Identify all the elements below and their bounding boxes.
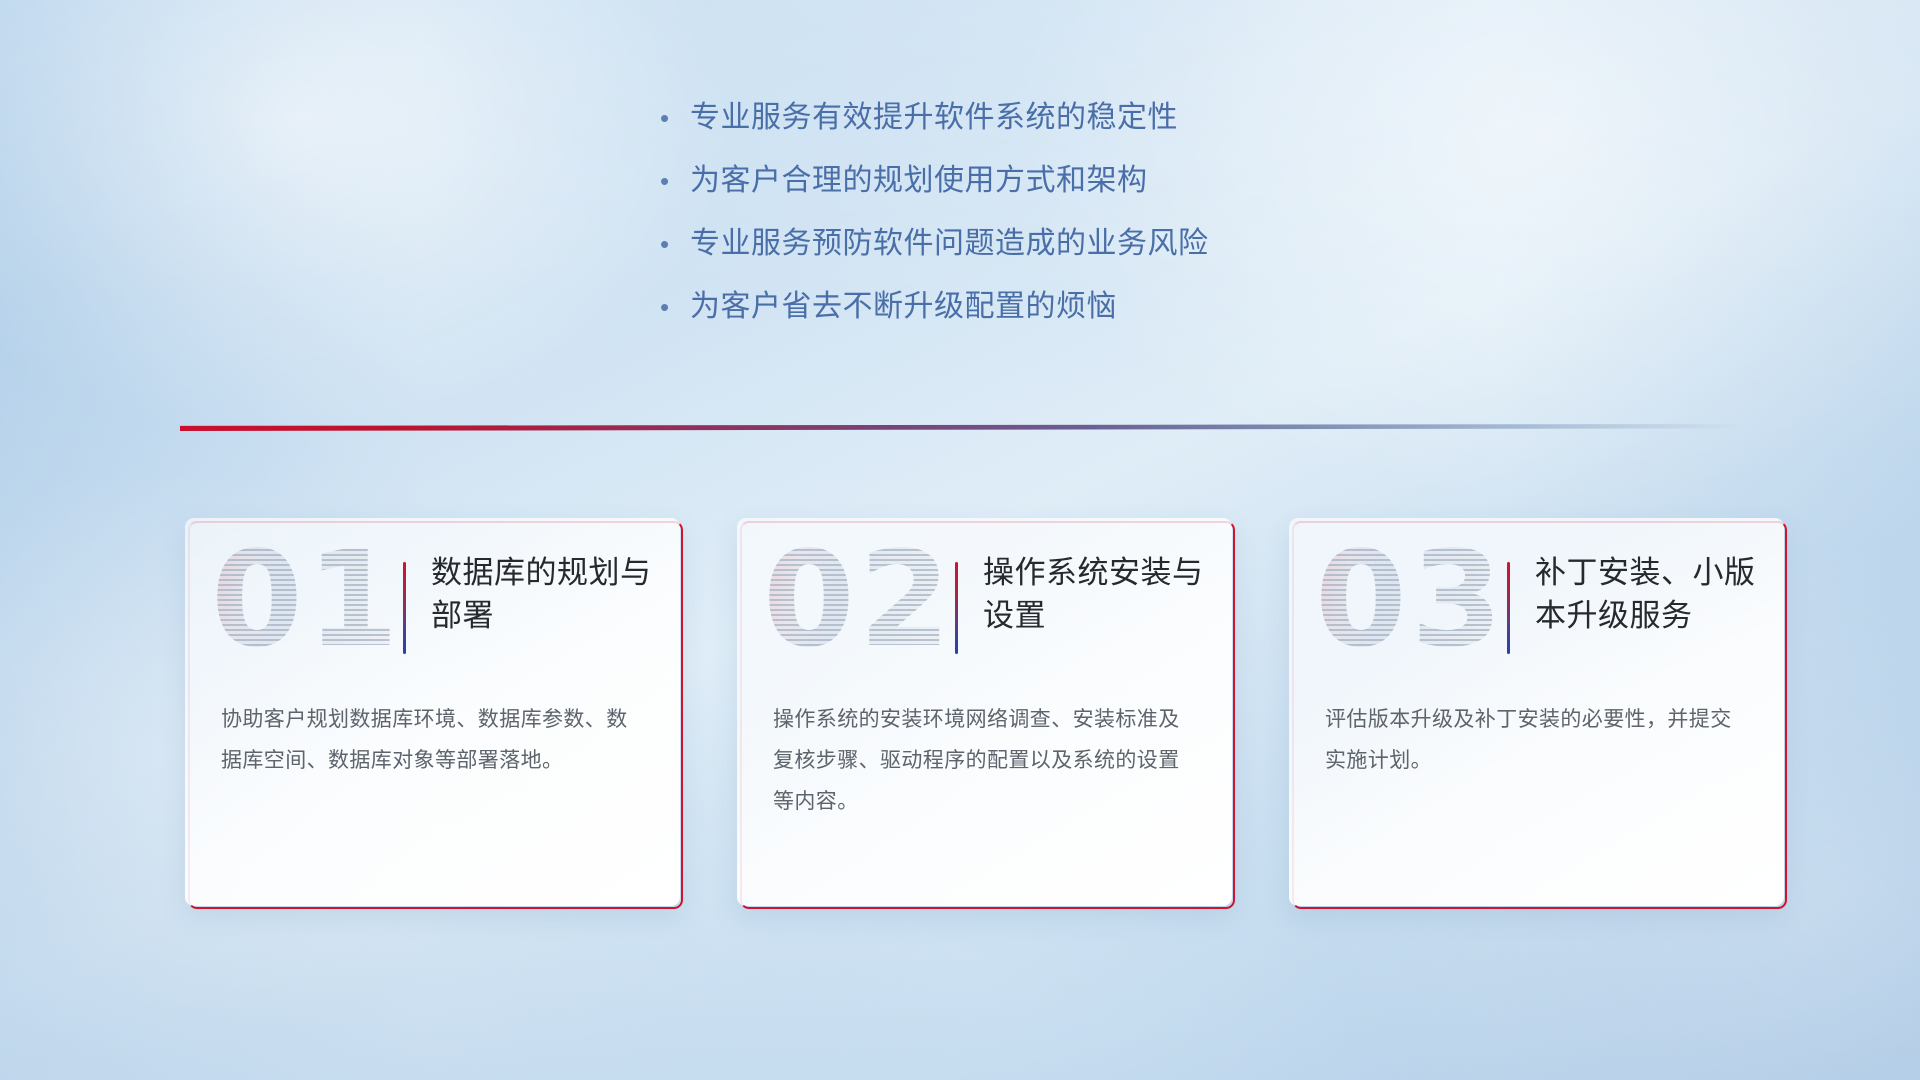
bullet-marker-icon: • — [660, 105, 690, 131]
card-title: 补丁安装、小版本升级服务 — [1535, 552, 1765, 638]
title-accent-rule — [403, 562, 406, 654]
bullet-list: • 专业服务有效提升软件系统的稳定性 • 为客户合理的规划使用方式和架构 • 专… — [660, 100, 1420, 352]
bullet-text: 为客户合理的规划使用方式和架构 — [690, 163, 1148, 199]
bullet-item: • 为客户合理的规划使用方式和架构 — [660, 163, 1420, 199]
service-card[interactable]: 01 数据库的规划与部署 协助客户规划数据库环境、数据库参数、数据库空间、数据库… — [185, 518, 680, 906]
slide-canvas: • 专业服务有效提升软件系统的稳定性 • 为客户合理的规划使用方式和架构 • 专… — [0, 0, 1920, 1080]
bullet-text: 专业服务有效提升软件系统的稳定性 — [690, 100, 1178, 136]
service-card[interactable]: 02 操作系统安装与设置 操作系统的安装环境网络调查、安装标准及复核步骤、驱动程… — [737, 518, 1232, 906]
card-number-watermark: 01 — [211, 534, 403, 666]
card-content: 03 补丁安装、小版本升级服务 评估版本升级及补丁安装的必要性，并提交实施计划。 — [1289, 518, 1784, 906]
bullet-item: • 专业服务有效提升软件系统的稳定性 — [660, 100, 1420, 136]
title-accent-rule — [955, 562, 958, 654]
card-body-text: 评估版本升级及补丁安装的必要性，并提交实施计划。 — [1325, 700, 1749, 782]
title-accent-rule — [1507, 562, 1510, 654]
card-number-watermark: 03 — [1315, 534, 1507, 666]
bullet-item: • 为客户省去不断升级配置的烦恼 — [660, 289, 1420, 325]
bullet-item: • 专业服务预防软件问题造成的业务风险 — [660, 226, 1420, 262]
section-divider — [180, 424, 1745, 434]
bullet-marker-icon: • — [660, 168, 690, 194]
card-number-watermark: 02 — [763, 534, 955, 666]
card-title: 数据库的规划与部署 — [431, 552, 661, 638]
bullet-text: 为客户省去不断升级配置的烦恼 — [690, 289, 1117, 325]
card-body-text: 操作系统的安装环境网络调查、安装标准及复核步骤、驱动程序的配置以及系统的设置等内… — [773, 700, 1197, 823]
bullet-text: 专业服务预防软件问题造成的业务风险 — [690, 226, 1209, 262]
card-content: 01 数据库的规划与部署 协助客户规划数据库环境、数据库参数、数据库空间、数据库… — [185, 518, 680, 906]
bullet-marker-icon: • — [660, 231, 690, 257]
service-card[interactable]: 03 补丁安装、小版本升级服务 评估版本升级及补丁安装的必要性，并提交实施计划。 — [1289, 518, 1784, 906]
card-content: 02 操作系统安装与设置 操作系统的安装环境网络调查、安装标准及复核步骤、驱动程… — [737, 518, 1232, 906]
card-body-text: 协助客户规划数据库环境、数据库参数、数据库空间、数据库对象等部署落地。 — [221, 700, 645, 782]
bullet-marker-icon: • — [660, 294, 690, 320]
card-title: 操作系统安装与设置 — [983, 552, 1213, 638]
card-row: 01 数据库的规划与部署 协助客户规划数据库环境、数据库参数、数据库空间、数据库… — [185, 518, 1785, 918]
divider-bar — [180, 424, 1745, 431]
